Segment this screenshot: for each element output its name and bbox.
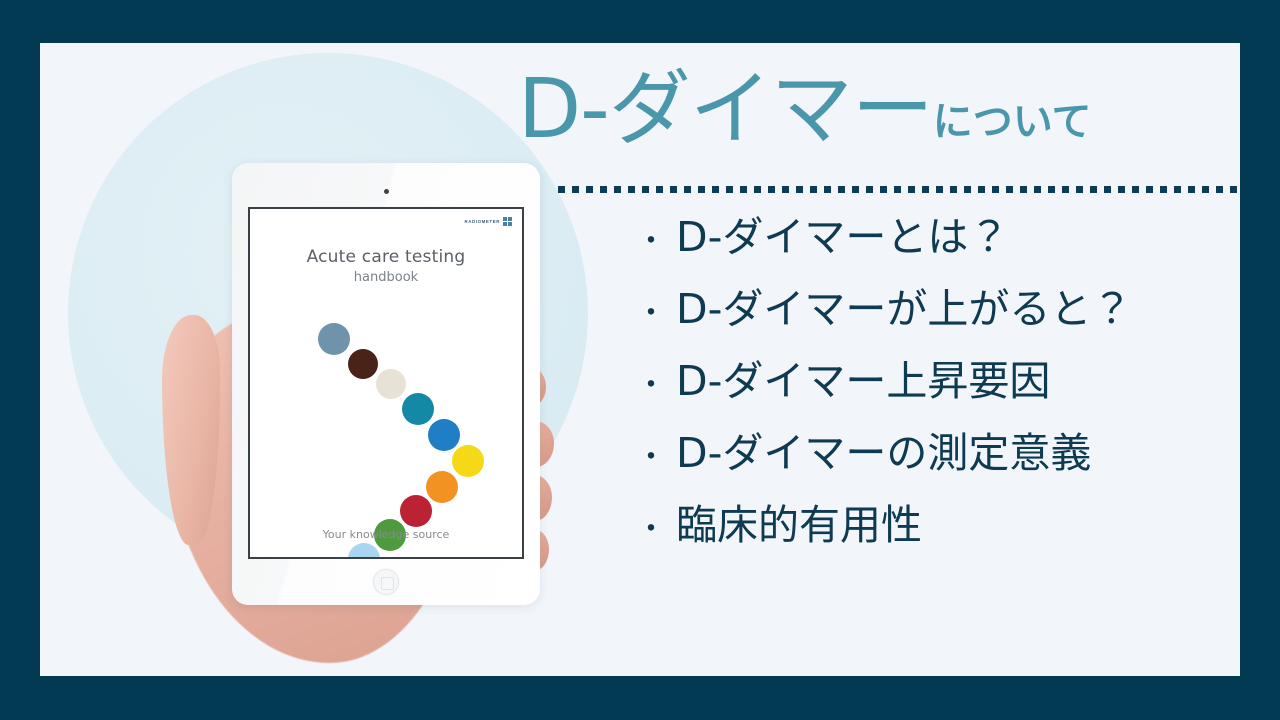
content-column: D-ダイマー について ・D-ダイマーとは？・D-ダイマーが上がると？・D-ダイ… — [518, 43, 1240, 676]
agenda-item[interactable]: ・D-ダイマーの測定意義 — [636, 433, 1240, 474]
agenda-item-label: D-ダイマーが上がると？ — [676, 289, 1132, 330]
tablet-home-button — [373, 569, 399, 595]
agenda-item[interactable]: ・D-ダイマー上昇要因 — [636, 361, 1240, 402]
tablet-screen: RADIOMETER Acute care testing handbook Y… — [248, 207, 524, 559]
slide-root: RADIOMETER Acute care testing handbook Y… — [0, 0, 1280, 720]
hero-illustration: RADIOMETER Acute care testing handbook Y… — [40, 43, 600, 676]
dot-cream — [376, 369, 406, 399]
handbook-dot-graphic — [250, 209, 524, 559]
agenda-item[interactable]: ・臨床的有用性 — [636, 505, 1240, 546]
agenda-item-label: D-ダイマー上昇要因 — [676, 361, 1050, 402]
agenda-item-label: D-ダイマーとは？ — [676, 217, 1009, 258]
bullet-icon: ・ — [636, 443, 666, 473]
bullet-icon: ・ — [636, 227, 666, 257]
agenda-item-label: D-ダイマーの測定意義 — [676, 433, 1091, 474]
bullet-icon: ・ — [636, 371, 666, 401]
agenda-list: ・D-ダイマーとは？・D-ダイマーが上がると？・D-ダイマー上昇要因・D-ダイマ… — [636, 217, 1240, 577]
bullet-icon: ・ — [636, 299, 666, 329]
agenda-item-label: 臨床的有用性 — [676, 505, 922, 546]
agenda-item[interactable]: ・D-ダイマーが上がると？ — [636, 289, 1240, 330]
dot-yellow — [452, 445, 484, 477]
dot-light-blue — [348, 543, 380, 559]
tablet-device: RADIOMETER Acute care testing handbook Y… — [232, 163, 540, 605]
title-dotted-rule — [558, 186, 1240, 193]
dot-teal — [402, 393, 434, 425]
page-title: D-ダイマー について — [518, 71, 1092, 148]
page-title-main: D-ダイマー — [518, 71, 933, 148]
dot-steel-blue — [318, 323, 350, 355]
bullet-icon: ・ — [636, 515, 666, 545]
dot-dark-brown — [348, 349, 378, 379]
tablet-camera-icon — [384, 189, 389, 194]
dot-blue — [428, 419, 460, 451]
page-title-suffix: について — [933, 102, 1092, 148]
handbook-footer: Your knowledge source — [250, 528, 522, 541]
dot-red — [400, 495, 432, 527]
agenda-item[interactable]: ・D-ダイマーとは？ — [636, 217, 1240, 258]
slide-panel: RADIOMETER Acute care testing handbook Y… — [40, 43, 1240, 676]
dot-orange — [426, 471, 458, 503]
